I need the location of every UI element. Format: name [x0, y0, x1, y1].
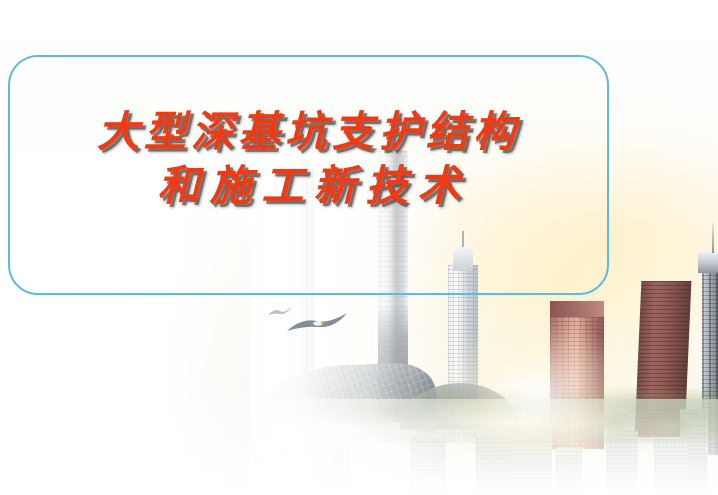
antenna-mast-left: [712, 223, 714, 253]
red-brick-tower-cap: [550, 301, 604, 317]
grey-tower-crown: [698, 251, 718, 273]
title-frame-border: [8, 55, 609, 295]
presentation-slide: 大型深基坑支护结构 和施工新技术: [0, 0, 718, 495]
mist-layer: [250, 379, 718, 489]
